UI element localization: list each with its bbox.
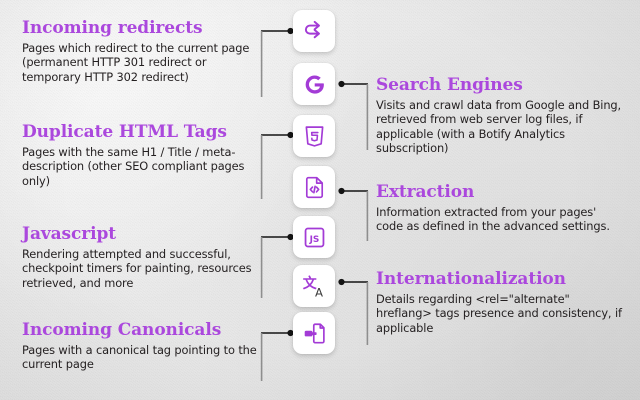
entry-duplicate-html-tags: Duplicate HTML Tags Pages with the same … [22, 123, 266, 188]
entry-title: Search Engines [376, 76, 624, 95]
entry-title: Incoming redirects [22, 19, 266, 38]
entry-description: Pages with a canonical tag pointing to t… [22, 343, 266, 372]
entry-extraction: Extraction Information extracted from yo… [376, 183, 624, 234]
icon-card-duplicate-html-tags[interactable] [293, 115, 335, 157]
icon-card-internationalization[interactable]: 文 A [293, 265, 335, 307]
icon-card-incoming-canonicals[interactable] [293, 312, 335, 354]
infographic-canvas: JS 文 A [0, 0, 640, 400]
entry-title: Javascript [22, 225, 266, 244]
icon-card-extraction[interactable] [293, 166, 335, 208]
html5-shield-icon [302, 124, 327, 149]
entry-title: Incoming Canonicals [22, 321, 266, 340]
icon-column: JS 文 A [293, 0, 339, 400]
entry-title: Duplicate HTML Tags [22, 123, 266, 142]
entry-internationalization: Internationalization Details regarding <… [376, 270, 624, 335]
entry-description: Visits and crawl data from Google and Bi… [376, 98, 624, 156]
redirect-arrow-icon [301, 18, 327, 44]
entry-description: Information extracted from your pages' c… [376, 205, 624, 234]
code-document-icon [302, 175, 327, 200]
svg-text:JS: JS [308, 234, 319, 244]
icon-card-search-engines[interactable] [293, 63, 335, 105]
entry-title: Extraction [376, 183, 624, 202]
google-g-icon [302, 72, 327, 97]
entry-title: Internationalization [376, 270, 624, 289]
canonical-document-icon [302, 321, 327, 346]
entry-search-engines: Search Engines Visits and crawl data fro… [376, 76, 624, 156]
entry-javascript: Javascript Rendering attempted and succe… [22, 225, 266, 290]
entry-description: Pages with the same H1 / Title / meta-de… [22, 145, 266, 188]
icon-card-javascript[interactable]: JS [293, 216, 335, 258]
connector-extraction [338, 188, 368, 241]
entry-incoming-canonicals: Incoming Canonicals Pages with a canonic… [22, 321, 266, 372]
svg-text:A: A [314, 285, 322, 299]
entry-description: Pages which redirect to the current page… [22, 41, 266, 84]
entry-description: Details regarding <rel="alternate" hrefl… [376, 292, 624, 335]
entry-description: Rendering attempted and successful, chec… [22, 247, 266, 290]
entry-incoming-redirects: Incoming redirects Pages which redirect … [22, 19, 266, 84]
js-badge-icon: JS [302, 225, 327, 250]
connector-search-engines [338, 81, 368, 150]
translate-icon: 文 A [301, 273, 328, 300]
icon-card-incoming-redirects[interactable] [293, 10, 335, 52]
connector-internationalization [338, 279, 368, 345]
